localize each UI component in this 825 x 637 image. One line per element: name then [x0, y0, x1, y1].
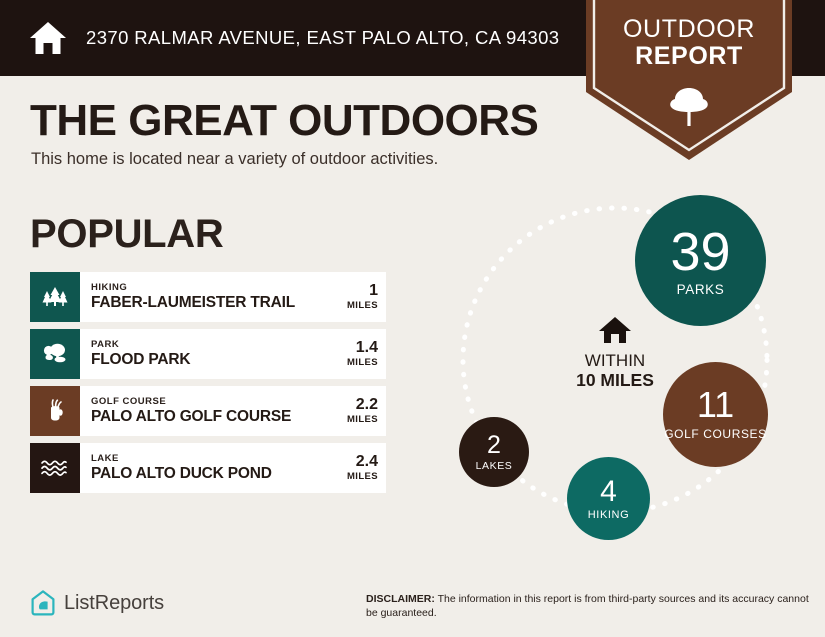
- list-item-category: LAKE: [91, 453, 341, 465]
- list-item-name: FABER-LAUMEISTER TRAIL: [91, 294, 341, 312]
- stat-count: 11: [697, 387, 734, 423]
- home-icon: [28, 18, 68, 58]
- list-item-distance: 1 MILES: [341, 283, 378, 311]
- popular-list: HIKING FABER-LAUMEISTER TRAIL 1 MILES PA…: [30, 272, 386, 500]
- golf-bag-icon: [30, 386, 80, 436]
- listreports-logo[interactable]: ListReports: [30, 589, 164, 617]
- disclaimer-label: DISCLAIMER:: [366, 593, 435, 605]
- distance-unit: MILES: [347, 357, 378, 368]
- stat-circle-hiking[interactable]: 4 HIKING: [567, 457, 650, 540]
- distance-value: 2.4: [347, 454, 378, 471]
- list-item-distance: 1.4 MILES: [341, 340, 378, 368]
- stat-label: HIKING: [588, 510, 630, 521]
- stat-count: 4: [600, 477, 617, 507]
- property-address: 2370 RALMAR AVENUE, EAST PALO ALTO, CA 9…: [86, 27, 559, 49]
- listreports-logo-text: ListReports: [64, 592, 164, 615]
- stat-label: LAKES: [476, 461, 513, 472]
- list-item-distance: 2.4 MILES: [341, 454, 378, 482]
- stat-label: PARKS: [677, 283, 725, 297]
- cluster-center: WITHIN 10 MILES: [535, 315, 695, 391]
- outdoor-report-badge: OUTDOOR REPORT: [586, 0, 792, 160]
- distance-value: 1.4: [347, 340, 378, 357]
- list-item-distance: 2.2 MILES: [341, 397, 378, 425]
- popular-heading: POPULAR: [30, 212, 223, 257]
- stat-count: 39: [670, 225, 730, 279]
- stat-circle-lakes[interactable]: 2 LAKES: [459, 417, 529, 487]
- distance-value: 1: [347, 283, 378, 300]
- list-item-category: HIKING: [91, 282, 341, 294]
- list-item[interactable]: HIKING FABER-LAUMEISTER TRAIL 1 MILES: [30, 272, 386, 322]
- stat-count: 2: [487, 433, 501, 458]
- listreports-house-icon: [30, 589, 56, 617]
- park-tree-icon: [30, 329, 80, 379]
- distance-unit: MILES: [347, 471, 378, 482]
- list-item-name: PALO ALTO DUCK POND: [91, 465, 341, 483]
- water-waves-icon: [30, 443, 80, 493]
- list-item[interactable]: LAKE PALO ALTO DUCK POND 2.4 MILES: [30, 443, 386, 493]
- list-item-category: PARK: [91, 339, 341, 351]
- list-item[interactable]: PARK FLOOD PARK 1.4 MILES: [30, 329, 386, 379]
- distance-value: 2.2: [347, 397, 378, 414]
- page-subtitle: This home is located near a variety of o…: [31, 150, 438, 169]
- page-title: THE GREAT OUTDOORS: [30, 96, 538, 146]
- list-item-name: PALO ALTO GOLF COURSE: [91, 408, 341, 426]
- list-item[interactable]: GOLF COURSE PALO ALTO GOLF COURSE 2.2 MI…: [30, 386, 386, 436]
- disclaimer: DISCLAIMER: The information in this repo…: [366, 592, 811, 620]
- list-item-category: GOLF COURSE: [91, 396, 341, 408]
- within-label: WITHIN: [535, 352, 695, 370]
- distance-unit: MILES: [347, 300, 378, 311]
- stat-circle-parks[interactable]: 39 PARKS: [635, 195, 766, 326]
- list-item-name: FLOOD PARK: [91, 351, 341, 369]
- stat-label: GOLF COURSES: [664, 427, 767, 441]
- distance-unit: MILES: [347, 414, 378, 425]
- pine-trees-icon: [30, 272, 80, 322]
- home-icon: [535, 315, 695, 345]
- within-radius-cluster: WITHIN 10 MILES 39 PARKS 11 GOLF COURSES…: [415, 170, 815, 550]
- stat-circle-golf-courses[interactable]: 11 GOLF COURSES: [663, 362, 768, 467]
